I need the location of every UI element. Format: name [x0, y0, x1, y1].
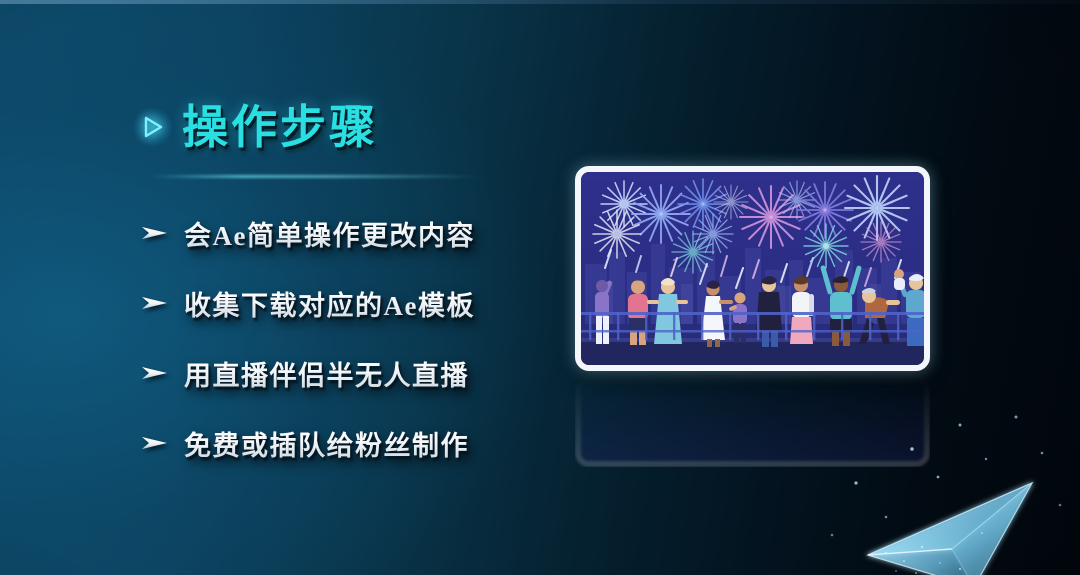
list-item-label: 免费或插队给粉丝制作	[184, 424, 469, 463]
particle-paper-plane	[856, 437, 1080, 575]
arrow-bullet-icon	[140, 293, 184, 313]
list-item-label: 会Ae简单操作更改内容	[184, 214, 475, 253]
presentation-slide: 操作步骤 会Ae简单操作更改内容	[0, 0, 1080, 575]
list-item-label: 收集下载对应的Ae模板	[184, 284, 475, 323]
list-item-label: 用直播伴侣半无人直播	[184, 354, 469, 393]
particle-sparkles	[820, 395, 1080, 575]
arrow-bullet-icon	[140, 223, 184, 243]
play-triangle-icon	[136, 110, 170, 144]
list-item: 收集下载对应的Ae模板	[140, 268, 570, 338]
arrow-bullet-icon	[140, 433, 184, 453]
arrow-bullet-icon	[140, 363, 184, 383]
top-edge-highlight	[0, 0, 1080, 4]
page-title: 操作步骤	[182, 104, 378, 150]
illustration-reflection	[575, 375, 930, 467]
list-item: 会Ae简单操作更改内容	[140, 198, 570, 268]
title-underline-glow	[150, 175, 480, 178]
illustration-container	[575, 166, 930, 371]
slide-title-row: 操作步骤	[136, 104, 378, 150]
list-item: 用直播伴侣半无人直播	[140, 338, 570, 408]
crowd-watching-fireworks-illustration	[575, 166, 930, 371]
list-item: 免费或插队给粉丝制作	[140, 408, 570, 478]
steps-list: 会Ae简单操作更改内容 收集下载对应的Ae模板 用直播伴侣半无人直播	[140, 198, 570, 478]
